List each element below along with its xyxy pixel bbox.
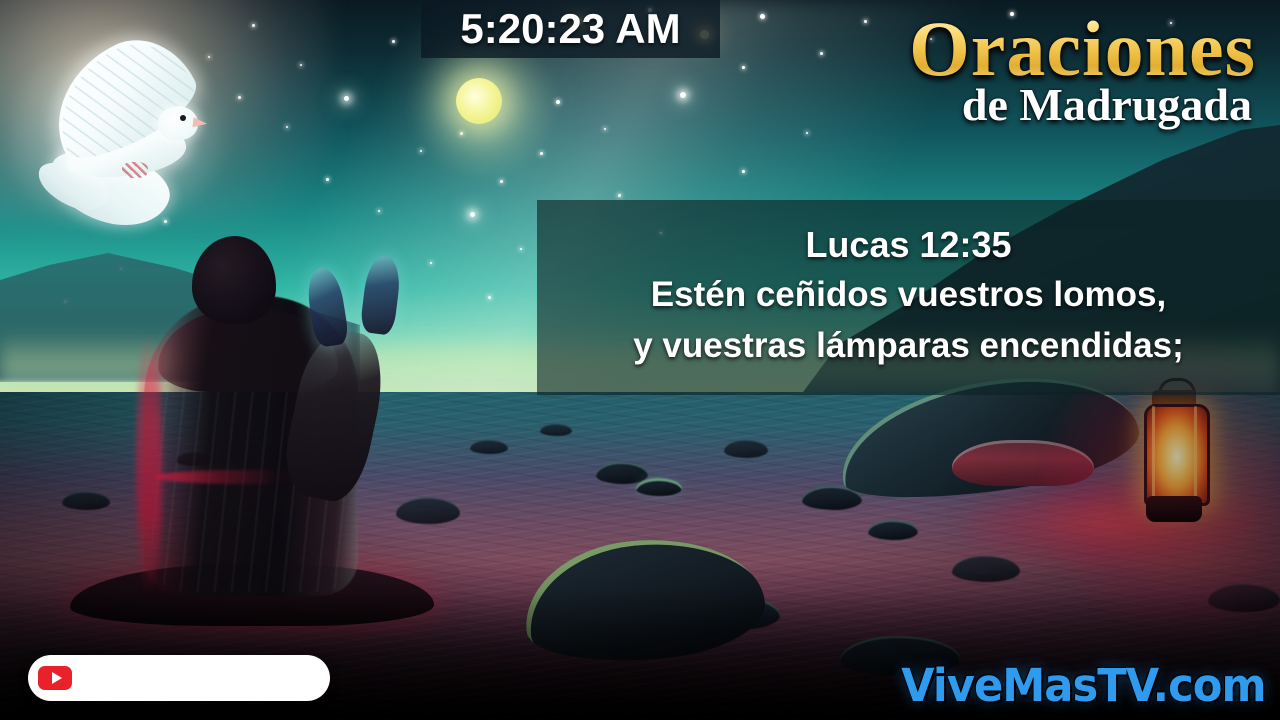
dove-feet	[122, 162, 148, 178]
figure-head	[192, 236, 276, 324]
channel-branding: Oraciones de Madrugada	[909, 10, 1256, 128]
youtube-play-icon[interactable]	[38, 666, 72, 690]
raised-hand-right	[359, 254, 402, 336]
site-watermark: ViveMasTV.com	[902, 659, 1266, 712]
clock-panel: 5:20:23 AM	[421, 0, 720, 58]
verse-line-2: y vuestras lámparas encendidas;	[633, 321, 1184, 372]
verse-line-1: Estén ceñidos vuestros lomos,	[651, 270, 1166, 321]
play-triangle-icon	[52, 672, 62, 684]
verse-reference: Lucas 12:35	[805, 224, 1011, 266]
bible-verse-panel: Lucas 12:35 Estén ceñidos vuestros lomos…	[537, 200, 1280, 395]
subscribe-banner[interactable]	[28, 655, 330, 701]
moon	[456, 78, 502, 124]
video-frame: 5:20:23 AM Oraciones de Madrugada Lucas …	[0, 0, 1280, 720]
white-dove	[8, 38, 228, 228]
clock-display: 5:20:23 AM	[460, 8, 680, 50]
dove-eye	[180, 115, 186, 121]
brand-title: Oraciones	[909, 10, 1256, 88]
dove-beak	[193, 117, 208, 128]
